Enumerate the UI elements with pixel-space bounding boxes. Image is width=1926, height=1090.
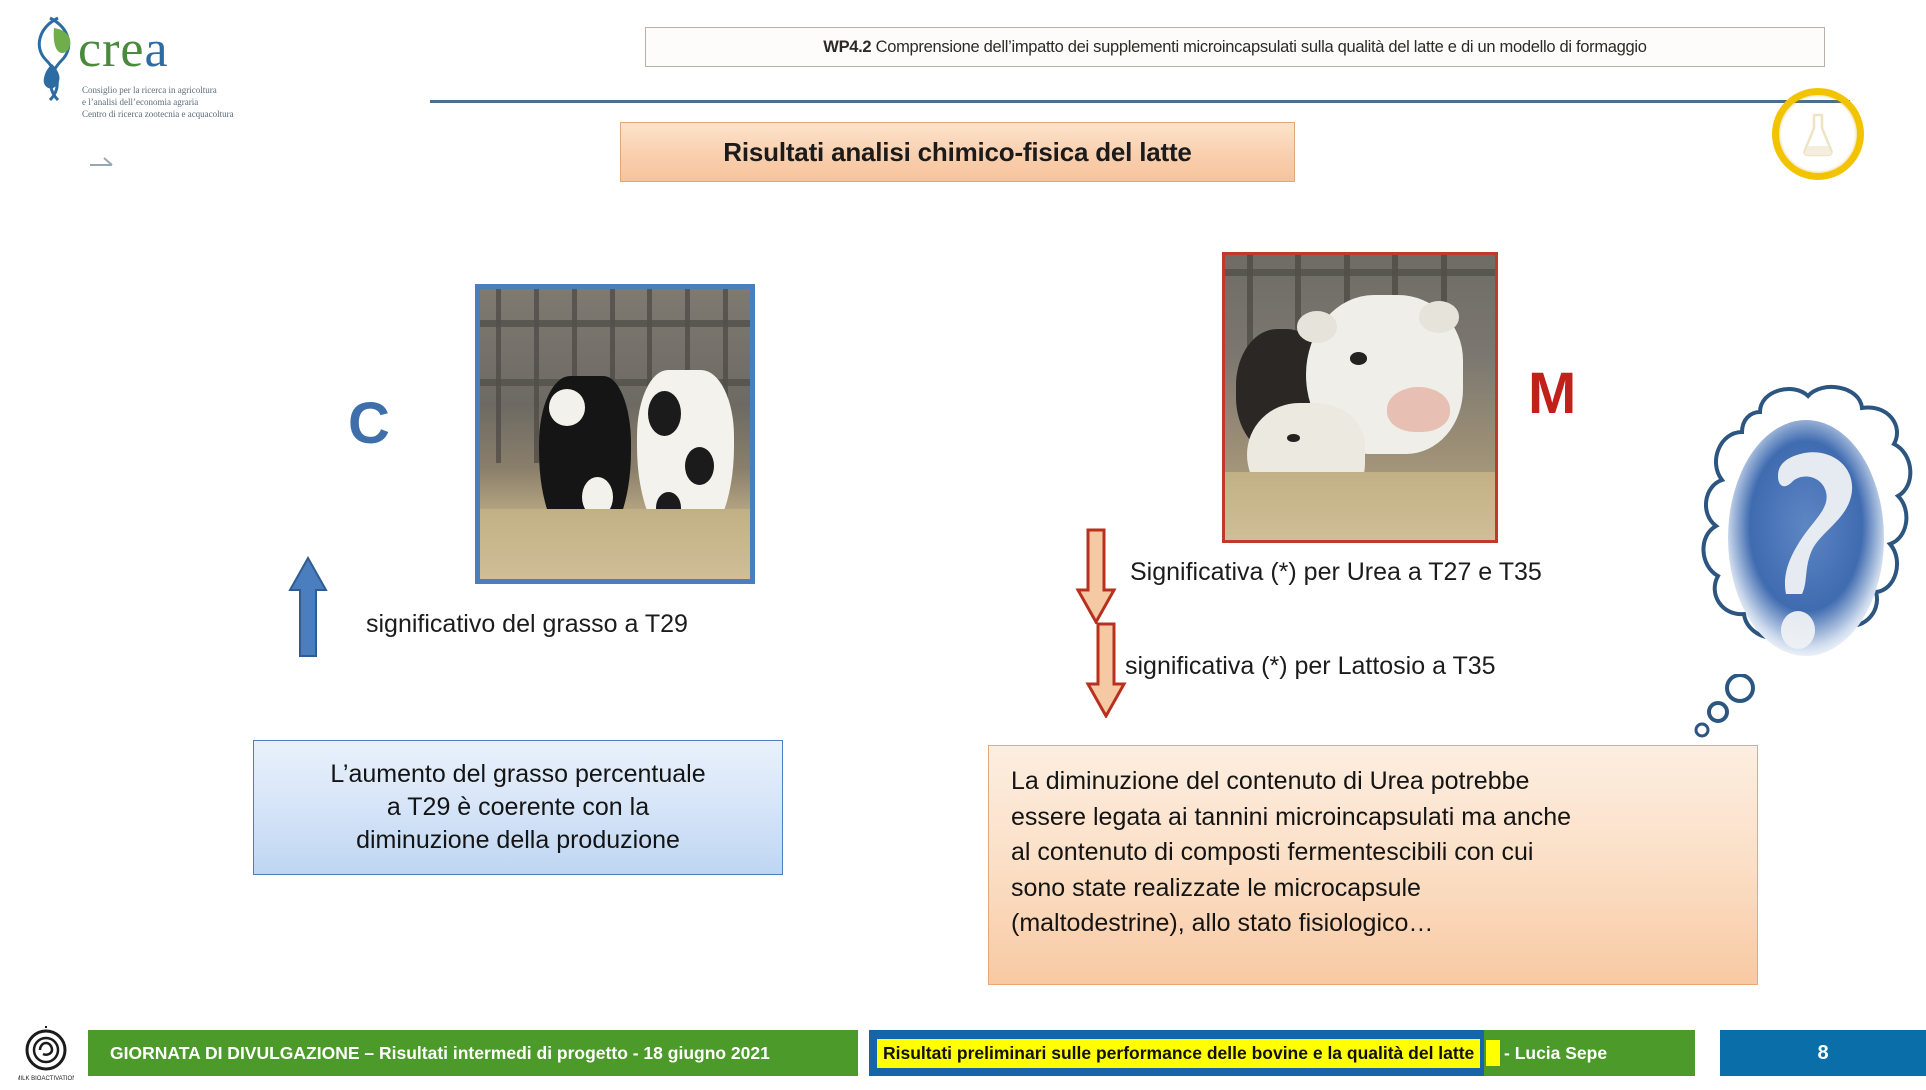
crea-logo-mark xyxy=(24,14,84,106)
page-number: 8 xyxy=(1817,1042,1828,1065)
crea-subtitle-line-3: Centro di ricerca zootecnia e acquacoltu… xyxy=(82,108,282,120)
slide-title-banner: Risultati analisi chimico-fisica del lat… xyxy=(620,122,1295,182)
crea-wordmark-a: a xyxy=(144,21,168,78)
workpackage-banner-text: WP4.2 Comprensione dell’impatto dei supp… xyxy=(823,38,1646,57)
arrow-down-decrease-lactose-icon xyxy=(1085,622,1127,718)
right-conclusion-line-5: (maltodestrine), allo stato fisiologico… xyxy=(1011,906,1735,942)
bioactimilk-logo-icon: MILK BIOACTIVATION xyxy=(18,1026,74,1084)
right-conclusion-line-2: essere legata ai tannini microincapsulat… xyxy=(1011,800,1735,836)
crea-logo: crea Consiglio per la ricerca in agricol… xyxy=(20,12,290,132)
thought-bubble xyxy=(1690,378,1926,708)
footer-page-number-box: 8 xyxy=(1720,1030,1926,1076)
arrow-up-increase-icon xyxy=(286,556,330,660)
arrow-down-decrease-urea-icon xyxy=(1075,528,1117,624)
left-conclusion-line-2: a T29 è coerente con la xyxy=(387,791,649,824)
photo-treatment-scene xyxy=(1225,255,1495,540)
crea-wordmark-cre: cre xyxy=(78,21,144,78)
decorative-tick-icon xyxy=(88,155,114,169)
thought-bubble-tails xyxy=(1682,674,1772,744)
footer-talk-title: Risultati preliminari sulle performance … xyxy=(877,1039,1480,1068)
right-conclusion-box: La diminuzione del contenuto di Urea pot… xyxy=(988,745,1758,985)
footer-highlight-cap xyxy=(1486,1040,1500,1066)
left-conclusion-line-3: diminuzione della produzione xyxy=(356,824,680,857)
header-divider xyxy=(430,100,1850,103)
footer-event-text: GIORNATA DI DIVULGAZIONE – Risultati int… xyxy=(88,1043,770,1064)
footer-speaker-banner: - Lucia Sepe xyxy=(1484,1030,1695,1076)
footer-talk-banner: Risultati preliminari sulle performance … xyxy=(869,1030,1485,1076)
project-badge-logo xyxy=(1772,88,1864,180)
photo-control-group-cows xyxy=(475,284,755,584)
right-note-urea: Significativa (*) per Urea a T27 e T35 xyxy=(1130,558,1542,587)
workpackage-description: Comprensione dell’impatto dei supplement… xyxy=(871,38,1646,56)
left-conclusion-box: L’aumento del grasso percentuale a T29 è… xyxy=(253,740,783,875)
workpackage-code: WP4.2 xyxy=(823,38,871,56)
thought-bubble-cloud xyxy=(1690,378,1926,708)
group-label-c: C xyxy=(348,390,390,457)
crea-subtitle-line-1: Consiglio per la ricerca in agricoltura xyxy=(82,84,282,96)
right-conclusion-line-3: al contenuto di composti fermentescibili… xyxy=(1011,835,1735,871)
left-arrow-note: significativo del grasso a T29 xyxy=(366,610,688,639)
right-conclusion-line-4: sono state realizzate le microcapsule xyxy=(1011,871,1735,907)
right-note-lactose: significativa (*) per Lattosio a T35 xyxy=(1125,652,1496,681)
footer-event-banner: GIORNATA DI DIVULGAZIONE – Risultati int… xyxy=(88,1030,858,1076)
photo-treatment-group-cows xyxy=(1222,252,1498,543)
crea-subtitle: Consiglio per la ricerca in agricoltura … xyxy=(82,84,282,120)
left-conclusion-line-1: L’aumento del grasso percentuale xyxy=(330,758,705,791)
footer-speaker-name: - Lucia Sepe xyxy=(1500,1043,1607,1064)
crea-wordmark: crea xyxy=(78,24,169,76)
slide-footer: MILK BIOACTIVATION GIORNATA DI DIVULGAZI… xyxy=(0,1018,1926,1090)
right-conclusion-line-1: La diminuzione del contenuto di Urea pot… xyxy=(1011,764,1735,800)
workpackage-banner: WP4.2 Comprensione dell’impatto dei supp… xyxy=(645,27,1825,67)
svg-text:MILK BIOACTIVATION: MILK BIOACTIVATION xyxy=(18,1076,74,1082)
slide-title: Risultati analisi chimico-fisica del lat… xyxy=(723,137,1191,168)
crea-subtitle-line-2: e l’analisi dell’economia agraria xyxy=(82,96,282,108)
straw-bedding xyxy=(480,509,750,579)
straw-feed xyxy=(1225,472,1495,540)
group-label-m: M xyxy=(1528,360,1576,427)
flask-icon xyxy=(1800,112,1836,158)
slide-canvas: crea Consiglio per la ricerca in agricol… xyxy=(0,0,1926,1090)
photo-control-scene xyxy=(480,289,750,579)
